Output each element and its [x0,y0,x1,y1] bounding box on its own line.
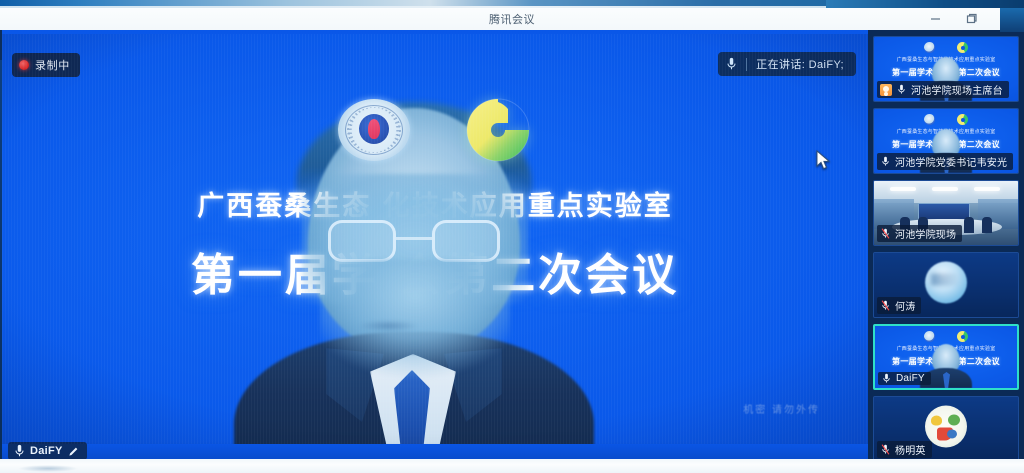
glasses-lens-right [432,220,500,262]
banner-divider [746,58,747,71]
participant-name: 杨明英 [895,442,926,457]
restore-button[interactable] [962,9,980,27]
window-titlebar[interactable]: 腾讯会议 [0,8,1024,30]
glasses-bridge [396,237,432,240]
main-video-stage[interactable]: 广西蚕桑生态 化技术应用重点实验室 第一届学 会第二次会议 录制中 [2,30,868,462]
recording-label: 录制中 [35,57,70,73]
tile-name-label: 杨明英 [877,441,932,458]
participant-name: DaiFY [896,373,925,384]
room-attendee [982,217,992,233]
microphone-muted-icon[interactable] [880,300,891,311]
window-title: 腾讯会议 [0,11,1024,27]
participant-tile[interactable]: 何涛 [873,252,1019,318]
slide-logos [2,34,868,134]
monitor-photo: 腾讯会议 [0,0,1024,473]
microphone-icon [14,444,25,458]
recording-indicator[interactable]: 录制中 [12,53,80,77]
participant-name: 河池学院现场 [895,226,956,241]
participant-tile[interactable]: 河池学院现场 [873,180,1019,246]
tile-name-label: DaiFY [878,372,931,385]
avatar-shape-blue [947,429,957,438]
bezel-reflection [18,465,78,472]
tile-name-label: 河池学院党委书记韦安光 [877,153,1013,170]
glasses-lens-left [328,220,396,262]
microphone-muted-icon[interactable] [880,228,891,239]
microphone-icon[interactable] [896,84,907,95]
tile-logos [874,114,1018,128]
university-seal-icon [924,42,935,53]
tile-name-label: 河池学院现场主席台 [877,81,1009,98]
green-g-icon [957,114,968,125]
presenter-face-lower [320,260,510,380]
pencil-icon[interactable] [68,446,79,457]
mouse-cursor [816,150,832,172]
avatar-shape-green [948,414,960,425]
self-view-chip[interactable]: DaiFY [8,442,87,460]
green-g-icon [957,331,968,342]
host-badge-icon [880,84,892,96]
microphone-icon[interactable] [881,373,892,384]
seal-emblem [359,114,389,144]
room-light [890,187,916,191]
room-light [932,187,958,191]
green-g-logo [464,96,532,164]
tile-name-label: 河池学院现场 [877,225,962,242]
meeting-window: 广西蚕桑生态 化技术应用重点实验室 第一届学 会第二次会议 录制中 [0,30,1024,462]
presenter-mouth [358,320,418,332]
participant-name: 河池学院现场主席台 [911,82,1003,97]
minimize-button[interactable] [926,9,944,27]
participant-name: 何涛 [895,298,915,313]
room-attendee [964,217,974,233]
microphone-muted-icon[interactable] [880,444,891,455]
room-light [974,187,1000,191]
monitor-bottom-bezel [0,459,1024,473]
tile-logos [875,331,1017,345]
participant-tile[interactable]: 广西蚕桑生态与智能化技术应用重点实验室 第一届学术委员会第二次会议 河池学院党委 [873,108,1019,174]
green-g-icon [957,42,968,53]
university-seal-icon [924,114,935,125]
presenter-glasses [328,220,500,262]
confidential-watermark: 机密 请勿外传 [743,401,820,416]
university-seal-logo [338,99,410,161]
participant-filmstrip[interactable]: 广西蚕桑生态与智能化技术应用重点实验室 第一届学术委员会第二次会议 [868,30,1024,462]
shared-screen-content: 广西蚕桑生态 化技术应用重点实验室 第一届学 会第二次会议 录制中 [2,34,868,444]
active-speaker-label: 正在讲话: DaiFY; [756,56,844,72]
participant-tile[interactable]: 杨明英 [873,396,1019,462]
participant-name: 河池学院党委书记韦安光 [895,154,1007,169]
self-view-name: DaiFY [30,445,63,457]
tile-name-label: 何涛 [877,297,921,314]
avatar-shape-yellow [931,415,942,425]
avatar [925,261,967,303]
university-seal-icon [924,331,935,342]
participant-tile-active-speaker[interactable]: 广西蚕桑生态与智能化技术应用重点实验室 第一届学术委员会第二次会议 DaiFY [873,324,1019,390]
participant-tile[interactable]: 广西蚕桑生态与智能化技术应用重点实验室 第一届学术委员会第二次会议 [873,36,1019,102]
tile-logos [874,42,1018,56]
microphone-icon[interactable] [880,156,891,167]
microphone-icon [726,57,737,71]
titlebar-right-edge [1000,8,1024,32]
monitor-top-right-shadow [826,0,1024,8]
active-speaker-banner: 正在讲话: DaiFY; [718,52,856,76]
recording-dot-icon [19,60,29,70]
